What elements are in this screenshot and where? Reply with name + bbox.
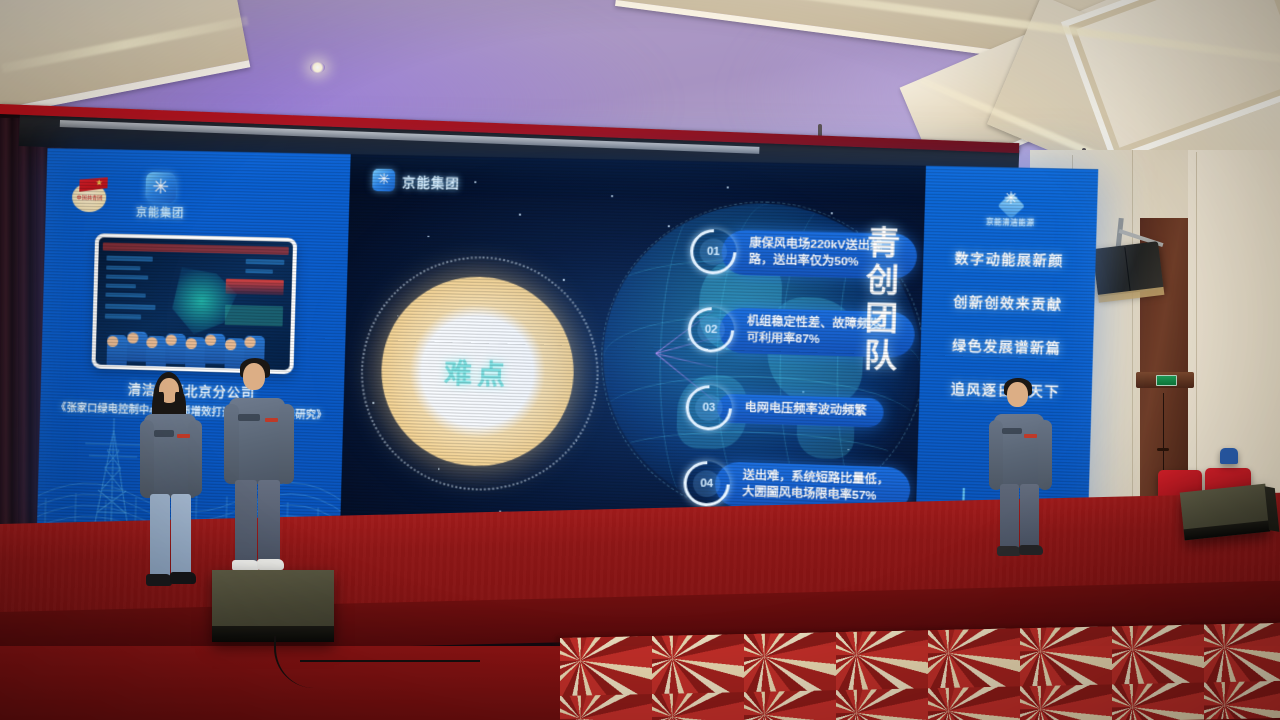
bullet-item[interactable]: 03 电网电压频率波动频繁 (685, 385, 913, 437)
right-panel-logo: ✳ 京能清洁能源 (986, 190, 1036, 228)
bullet-arc-icon: 03 (685, 385, 733, 432)
right-logo-label: 京能清洁能源 (986, 217, 1035, 228)
speaker-divider (1124, 247, 1130, 291)
patterned-carpet (560, 622, 1280, 720)
person-presenter-male-center (222, 358, 296, 584)
door-handle[interactable] (1157, 448, 1169, 451)
stage-monitor-speaker-right (1180, 484, 1271, 541)
power-cable (300, 660, 480, 682)
bullet-text: 电网电压频率波动频繁 (717, 394, 884, 428)
hanging-line-array-speaker (1092, 241, 1163, 297)
emblem-caption: 中国共青团 (76, 194, 103, 202)
jingneng-starburst-icon: ✳ (372, 169, 395, 192)
chair-item (1220, 448, 1238, 464)
team-photo-card (91, 233, 297, 374)
stage-riser-box (212, 570, 334, 642)
bullet-number: 01 (699, 238, 727, 265)
team-photo (96, 237, 294, 370)
hub-label: 难点 (381, 349, 574, 394)
slogan-line: 绿色发展谱新篇 (921, 333, 1094, 357)
bullet-number: 04 (693, 470, 721, 498)
bullet-number: 02 (697, 316, 725, 343)
bullet-arc-icon: 02 (687, 307, 735, 353)
slogan-line: 创新创效来贡献 (922, 290, 1095, 314)
jingneng-starburst-icon: ✳ (145, 172, 176, 203)
wall-seam (1132, 150, 1133, 550)
communist-youth-league-emblem-icon: ★ 中国共青团 (70, 177, 111, 214)
center-brand: ✳ 京能集团 (372, 169, 460, 193)
person-presenter-male-right (986, 378, 1056, 564)
person-presenter-female (138, 372, 208, 594)
vertical-title: 青创团队 (856, 224, 909, 375)
jingneng-label: 京能集团 (136, 204, 185, 221)
bullet-arc-icon: 04 (683, 460, 731, 507)
bullet-arc-icon: 01 (690, 229, 738, 275)
clean-energy-logo-icon: ✳ (996, 190, 1025, 216)
left-panel-logo-row: ★ 中国共青团 ✳ 京能集团 (70, 171, 186, 222)
ceiling-downlight (310, 62, 325, 73)
slogan-line: 数字动能展新颜 (923, 246, 1096, 270)
center-brand-label: 京能集团 (402, 171, 460, 192)
jingneng-group-logo: ✳ 京能集团 (136, 172, 186, 221)
bullet-number: 03 (695, 394, 723, 421)
stage-presentation-scene: ★ 中国共青团 ✳ 京能集团 (0, 0, 1280, 720)
exit-sign-icon (1156, 375, 1177, 386)
